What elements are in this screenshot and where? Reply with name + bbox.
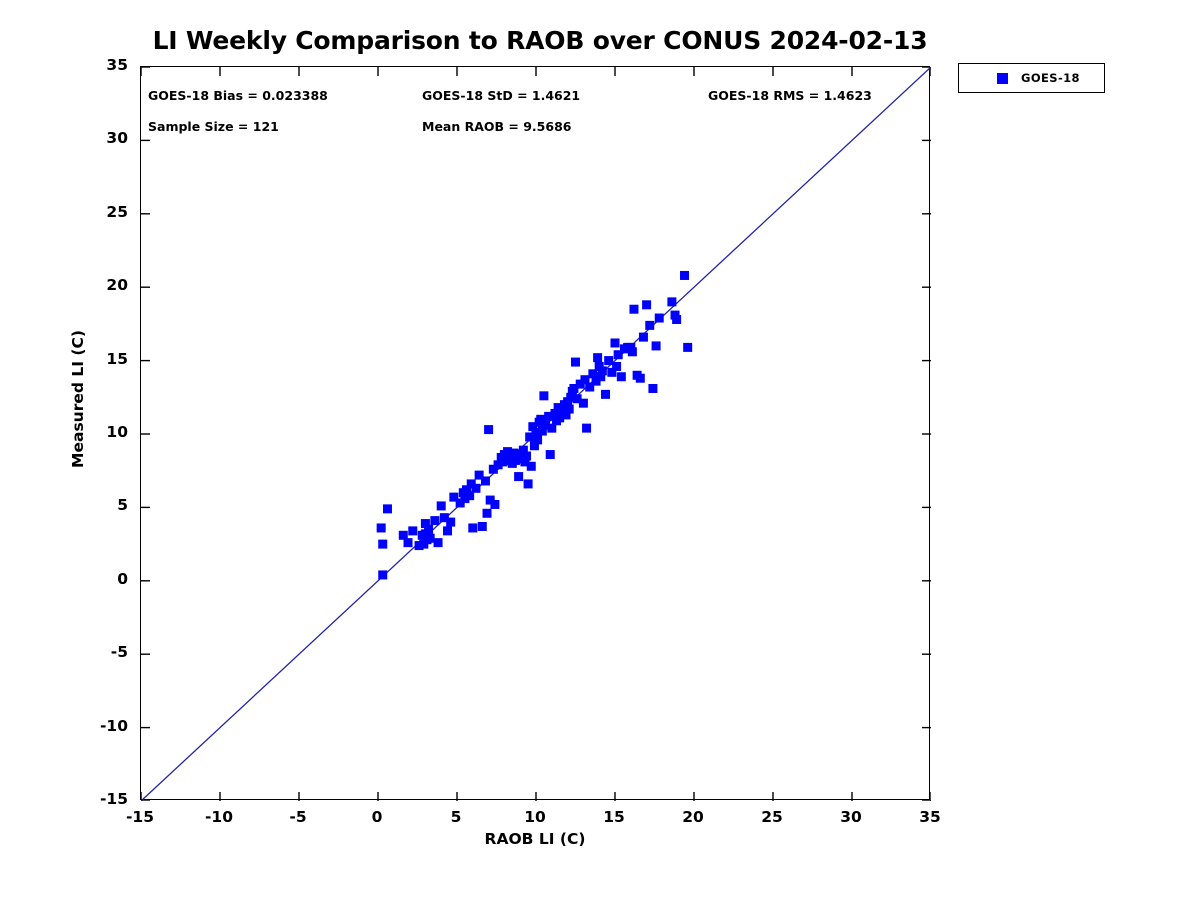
scatter-point [468, 523, 477, 532]
y-axis-title: Measured LI (C) [69, 299, 87, 499]
scatter-point [378, 570, 387, 579]
scatter-point [628, 347, 637, 356]
x-tick-label: -5 [263, 808, 333, 826]
scatter-point [604, 356, 613, 365]
legend-label-goes18: GOES-18 [1021, 71, 1101, 85]
plot-area [140, 66, 930, 800]
scatter-point [524, 479, 533, 488]
scatter-point [593, 353, 602, 362]
x-tick-label: 0 [342, 808, 412, 826]
scatter-point [539, 391, 548, 400]
scatter-point [408, 526, 417, 535]
x-tick-label: -15 [105, 808, 175, 826]
scatter-point [483, 509, 492, 518]
legend-marker-icon [997, 73, 1008, 84]
y-tick-label: -15 [68, 790, 128, 808]
scatter-point [571, 358, 580, 367]
legend: GOES-18 [958, 63, 1105, 93]
scatter-point [404, 538, 413, 547]
scatter-point [546, 450, 555, 459]
x-tick-label: 5 [421, 808, 491, 826]
scatter-point [579, 399, 588, 408]
x-tick-label: 35 [895, 808, 965, 826]
data-points [377, 271, 693, 579]
scatter-point [478, 522, 487, 531]
scatter-point [440, 513, 449, 522]
scatter-point [655, 314, 664, 323]
y-tick-label: -5 [68, 643, 128, 661]
chart-figure: LI Weekly Comparison to RAOB over CONUS … [0, 0, 1200, 900]
scatter-point [642, 300, 651, 309]
scatter-point [421, 519, 430, 528]
y-tick-label: 5 [68, 496, 128, 514]
scatter-point [672, 315, 681, 324]
scatter-point [601, 390, 610, 399]
y-tick-label: 0 [68, 570, 128, 588]
scatter-point [652, 341, 661, 350]
scatter-point [522, 452, 531, 461]
scatter-point [378, 540, 387, 549]
scatter-point [612, 362, 621, 371]
scatter-point [598, 366, 607, 375]
scatter-point [377, 523, 386, 532]
scatter-point [667, 297, 676, 306]
scatter-point [484, 425, 493, 434]
y-tick-label: 20 [68, 276, 128, 294]
y-tick-label: -10 [68, 717, 128, 735]
scatter-point [611, 338, 620, 347]
scatter-point [636, 374, 645, 383]
scatter-point [490, 500, 499, 509]
scatter-point [683, 343, 692, 352]
y-tick-label: 30 [68, 129, 128, 147]
scatter-point [527, 462, 536, 471]
scatter-point [481, 476, 490, 485]
x-tick-label: -10 [184, 808, 254, 826]
scatter-point [437, 501, 446, 510]
x-tick-label: 10 [500, 808, 570, 826]
scatter-point [565, 405, 574, 414]
scatter-point [639, 333, 648, 342]
scatter-plot-canvas [141, 67, 931, 801]
scatter-point [582, 424, 591, 433]
scatter-point [430, 516, 439, 525]
x-tick-label: 15 [579, 808, 649, 826]
scatter-point [426, 534, 435, 543]
x-axis-title: RAOB LI (C) [435, 830, 635, 848]
scatter-point [629, 305, 638, 314]
x-tick-label: 20 [658, 808, 728, 826]
scatter-point [383, 504, 392, 513]
y-tick-label: 35 [68, 56, 128, 74]
scatter-point [533, 435, 542, 444]
scatter-point [617, 372, 626, 381]
scatter-point [648, 384, 657, 393]
scatter-point [514, 472, 523, 481]
y-tick-label: 25 [68, 203, 128, 221]
scatter-point [645, 321, 654, 330]
scatter-point [680, 271, 689, 280]
x-tick-label: 25 [737, 808, 807, 826]
scatter-point [443, 526, 452, 535]
scatter-point [434, 538, 443, 547]
x-tick-label: 30 [816, 808, 886, 826]
page-title: LI Weekly Comparison to RAOB over CONUS … [140, 26, 940, 55]
scatter-point [471, 484, 480, 493]
